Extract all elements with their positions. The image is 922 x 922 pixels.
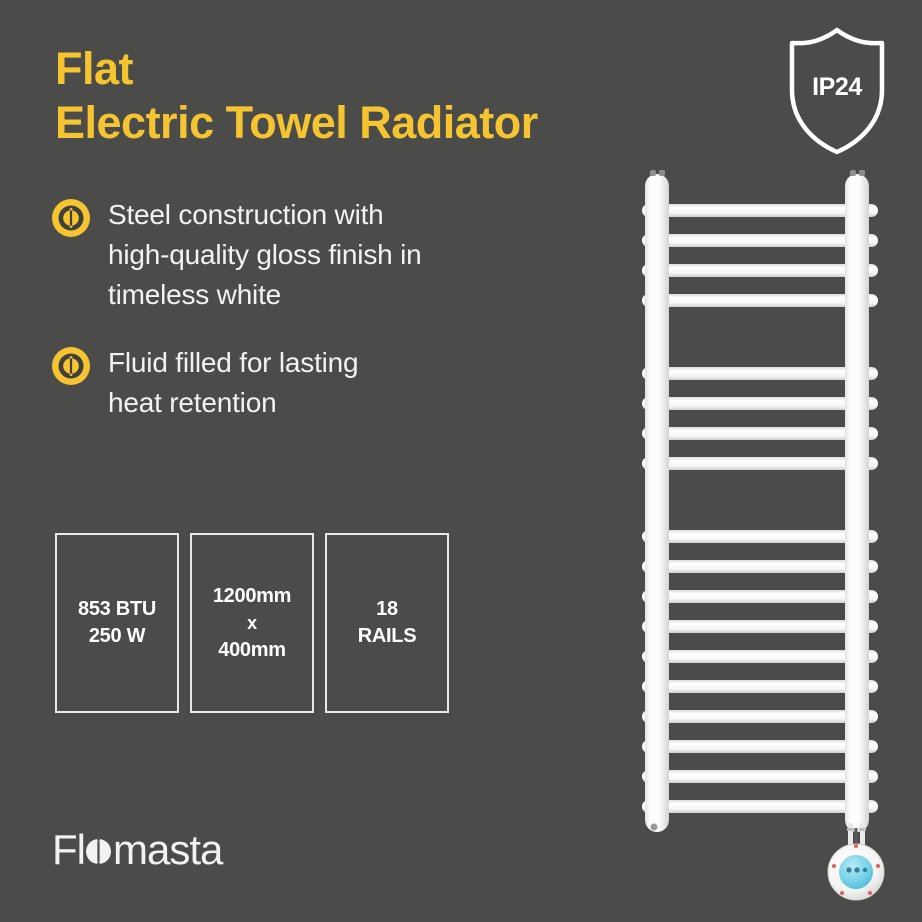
ip-rating-label: IP24 xyxy=(778,24,896,158)
bullet-1-line-3: timeless white xyxy=(108,279,281,310)
electric-element-thermostat xyxy=(828,823,884,900)
spec-box-rails: 18 RAILS xyxy=(325,533,449,713)
towel-radiator-illustration xyxy=(630,160,890,920)
ip-rating-badge: IP24 xyxy=(778,24,896,158)
flomasta-wordmark-icon: Fl masta xyxy=(52,828,267,876)
bullet-1-line-1: Steel construction with xyxy=(108,199,384,230)
brand-logo: Fl masta xyxy=(52,828,267,876)
product-image-radiator xyxy=(630,160,890,920)
bullet-2-line-1: Fluid filled for lasting xyxy=(108,347,358,378)
product-marketing-image: Flat Electric Towel Radiator IP24 Steel … xyxy=(0,0,922,922)
list-item: Fluid filled for lasting heat retention xyxy=(52,343,572,423)
spec-rails-label: RAILS xyxy=(358,623,417,650)
list-item-label: Fluid filled for lasting heat retention xyxy=(108,343,358,423)
spec-dim-line-1: 1200mm xyxy=(213,583,291,610)
spec-box-output: 853 BTU 250 W xyxy=(55,533,179,713)
svg-text:masta: masta xyxy=(113,828,224,873)
feature-list: Steel construction with high-quality glo… xyxy=(52,195,572,451)
flomasta-mark-icon xyxy=(52,347,90,385)
page-title: Flat Electric Towel Radiator xyxy=(55,42,675,150)
radiator-rungs xyxy=(642,204,878,813)
radiator-bottom-plug xyxy=(651,824,658,831)
bullet-2-line-2: heat retention xyxy=(108,387,276,418)
spec-output-line-1: 853 BTU xyxy=(78,596,156,623)
spec-boxes: 853 BTU 250 W 1200mm x 400mm 18 RAILS xyxy=(55,533,449,713)
bullet-1-line-2: high-quality gloss finish in xyxy=(108,239,421,270)
spec-dim-line-2: 400mm xyxy=(218,637,285,664)
spec-box-dimensions: 1200mm x 400mm xyxy=(190,533,314,713)
list-item: Steel construction with high-quality glo… xyxy=(52,195,572,315)
title-line-2: Electric Towel Radiator xyxy=(55,96,675,150)
flomasta-mark-icon xyxy=(52,199,90,237)
radiator-top-caps xyxy=(650,170,865,176)
spec-rails-count: 18 xyxy=(376,596,398,623)
svg-text:Fl: Fl xyxy=(52,828,85,873)
spec-output-line-2: 250 W xyxy=(89,623,145,650)
list-item-label: Steel construction with high-quality glo… xyxy=(108,195,421,315)
title-line-1: Flat xyxy=(55,42,675,96)
spec-dim-separator: x xyxy=(247,610,257,637)
